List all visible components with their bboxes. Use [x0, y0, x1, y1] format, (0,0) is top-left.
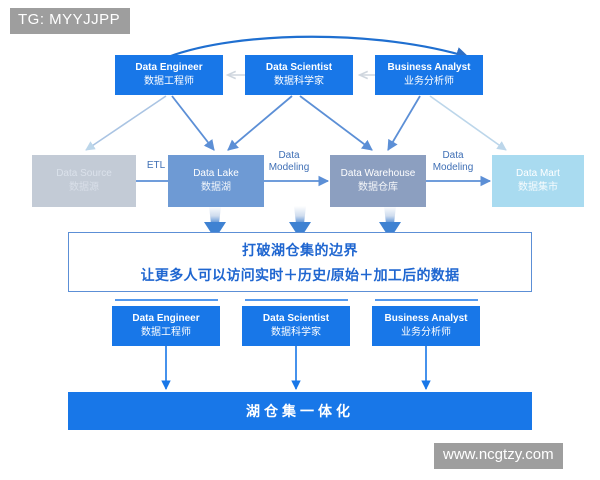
top-role-business-analyst-cn: 业务分析师: [404, 76, 454, 89]
bottom-role-data-scientist-cn: 数据科学家: [271, 327, 321, 340]
top-role-data-engineer-cn: 数据工程师: [144, 76, 194, 89]
top-role-business-analyst-en: Business Analyst: [388, 62, 471, 75]
top-role-business-analyst[interactable]: Business Analyst 业务分析师: [375, 55, 483, 95]
top-role-data-engineer[interactable]: Data Engineer 数据工程师: [115, 55, 223, 95]
pipeline-node-data-warehouse[interactable]: Data Warehouse 数据仓库: [330, 155, 426, 207]
pipeline-node-data-mart-en: Data Mart: [516, 168, 560, 181]
diagram-canvas: Data Engineer 数据工程师 Data Scientist 数据科学家…: [0, 0, 600, 480]
top-role-data-scientist-cn: 数据科学家: [274, 76, 324, 89]
edge-label-data-modeling-1: Data Modeling: [252, 150, 326, 173]
pipeline-node-data-lake-cn: 数据湖: [201, 182, 231, 195]
top-role-data-scientist-en: Data Scientist: [266, 62, 332, 75]
edge-label-etl: ETL: [136, 160, 176, 172]
telegram-tag-watermark: TG: MYYJJPP: [10, 8, 130, 34]
pipeline-node-data-lake[interactable]: Data Lake 数据湖: [168, 155, 264, 207]
middle-banner-line1: 打破湖仓集的边界: [242, 240, 358, 260]
pipeline-node-data-mart-cn: 数据集市: [518, 182, 558, 195]
arc-engineer-analyst: [168, 37, 468, 57]
bottom-role-business-analyst[interactable]: Business Analyst 业务分析师: [372, 306, 480, 346]
bottom-role-business-analyst-en: Business Analyst: [385, 313, 468, 326]
site-url-watermark: www.ncgtzy.com: [434, 443, 563, 469]
edge-scientist-to-lake: [228, 96, 292, 150]
edge-analyst-to-warehouse: [388, 96, 420, 150]
pipeline-node-data-lake-en: Data Lake: [193, 168, 239, 181]
edge-engineer-to-source: [86, 96, 166, 150]
bottom-role-business-analyst-cn: 业务分析师: [401, 327, 451, 340]
bottom-role-data-scientist-en: Data Scientist: [263, 313, 329, 326]
middle-banner-line2: 让更多人可以访问实时＋历史/原始＋加工后的数据: [141, 265, 460, 285]
bottom-banner-text: 湖仓集一体化: [246, 401, 354, 421]
bottom-banner: 湖仓集一体化: [68, 392, 532, 430]
edge-label-data-modeling-2: Data Modeling: [416, 150, 490, 173]
top-role-data-engineer-en: Data Engineer: [135, 62, 202, 75]
bottom-role-data-engineer-cn: 数据工程师: [141, 327, 191, 340]
pipeline-node-data-source[interactable]: Data Source 数据源: [32, 155, 136, 207]
bottom-role-data-scientist[interactable]: Data Scientist 数据科学家: [242, 306, 350, 346]
pipeline-node-data-source-en: Data Source: [56, 168, 112, 181]
pipeline-node-data-warehouse-cn: 数据仓库: [358, 182, 398, 195]
middle-banner: 打破湖仓集的边界 让更多人可以访问实时＋历史/原始＋加工后的数据: [68, 232, 532, 292]
bottom-role-data-engineer[interactable]: Data Engineer 数据工程师: [112, 306, 220, 346]
edge-analyst-to-mart: [430, 96, 506, 150]
pipeline-node-data-source-cn: 数据源: [69, 182, 99, 195]
top-role-data-scientist[interactable]: Data Scientist 数据科学家: [245, 55, 353, 95]
edge-engineer-to-lake: [172, 96, 214, 150]
pipeline-node-data-mart[interactable]: Data Mart 数据集市: [492, 155, 584, 207]
edge-scientist-to-warehouse: [300, 96, 372, 150]
bottom-role-data-engineer-en: Data Engineer: [132, 313, 199, 326]
pipeline-node-data-warehouse-en: Data Warehouse: [341, 168, 416, 181]
